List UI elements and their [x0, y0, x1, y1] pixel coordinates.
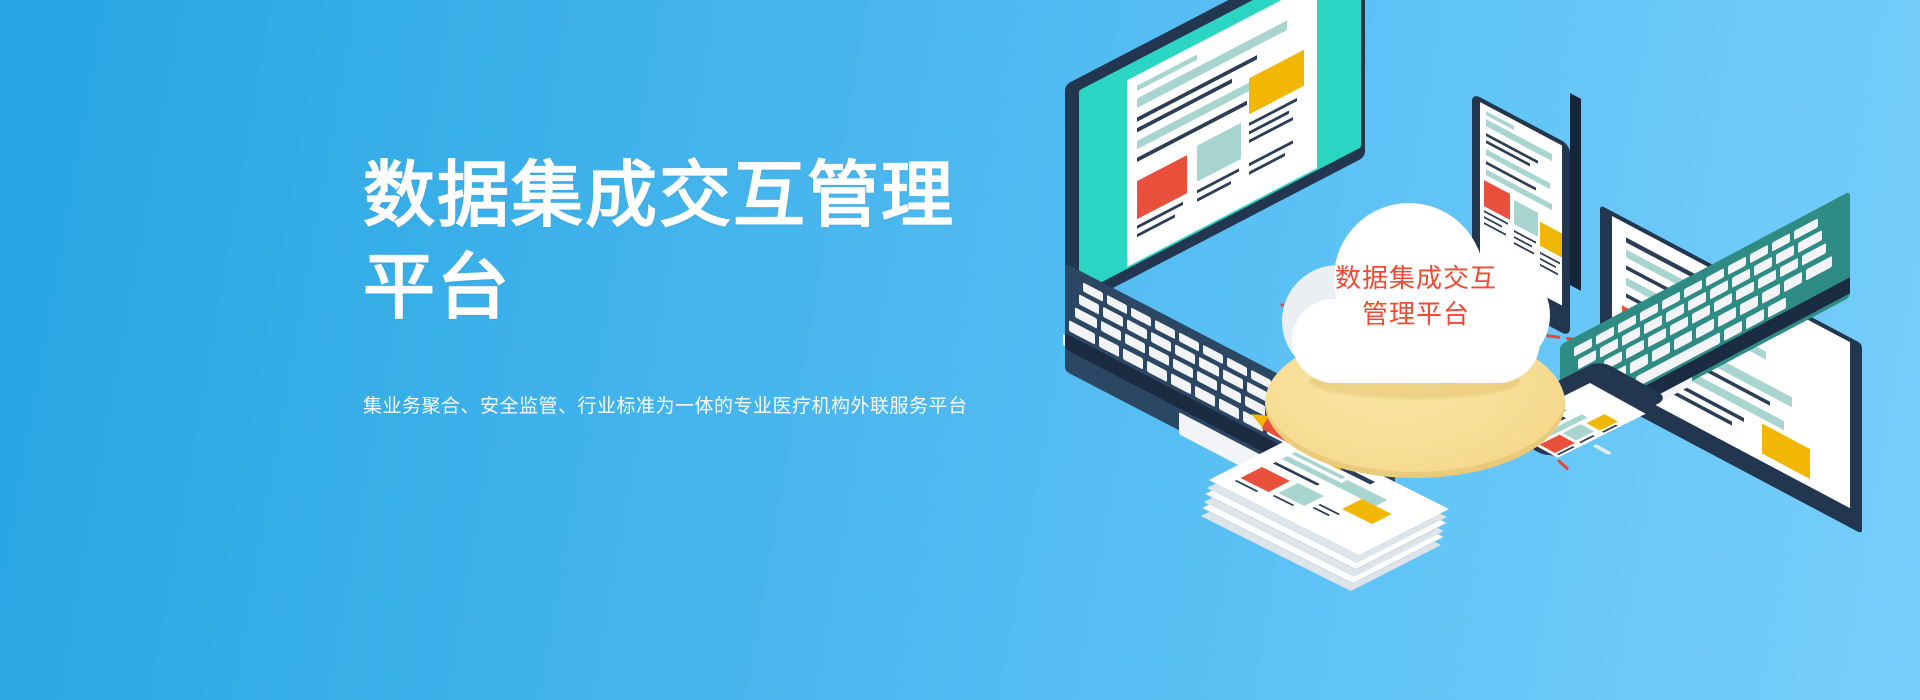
phone-speaker: [1592, 444, 1612, 455]
page-title: 数据集成交互管理 平台: [363, 150, 1043, 334]
hero-illustration: 数据集成交互 管理平台: [1060, 85, 1850, 555]
cloud-label: 数据集成交互 管理平台: [1282, 260, 1550, 332]
page-subtitle: 集业务聚合、安全监管、行业标准为一体的专业医疗机构外联服务平台: [363, 392, 1043, 422]
hero-banner: 数据集成交互管理 平台 集业务聚合、安全监管、行业标准为一体的专业医疗机构外联服…: [0, 0, 1920, 700]
hero-copy: 数据集成交互管理 平台 集业务聚合、安全监管、行业标准为一体的专业医疗机构外联服…: [363, 150, 1043, 422]
